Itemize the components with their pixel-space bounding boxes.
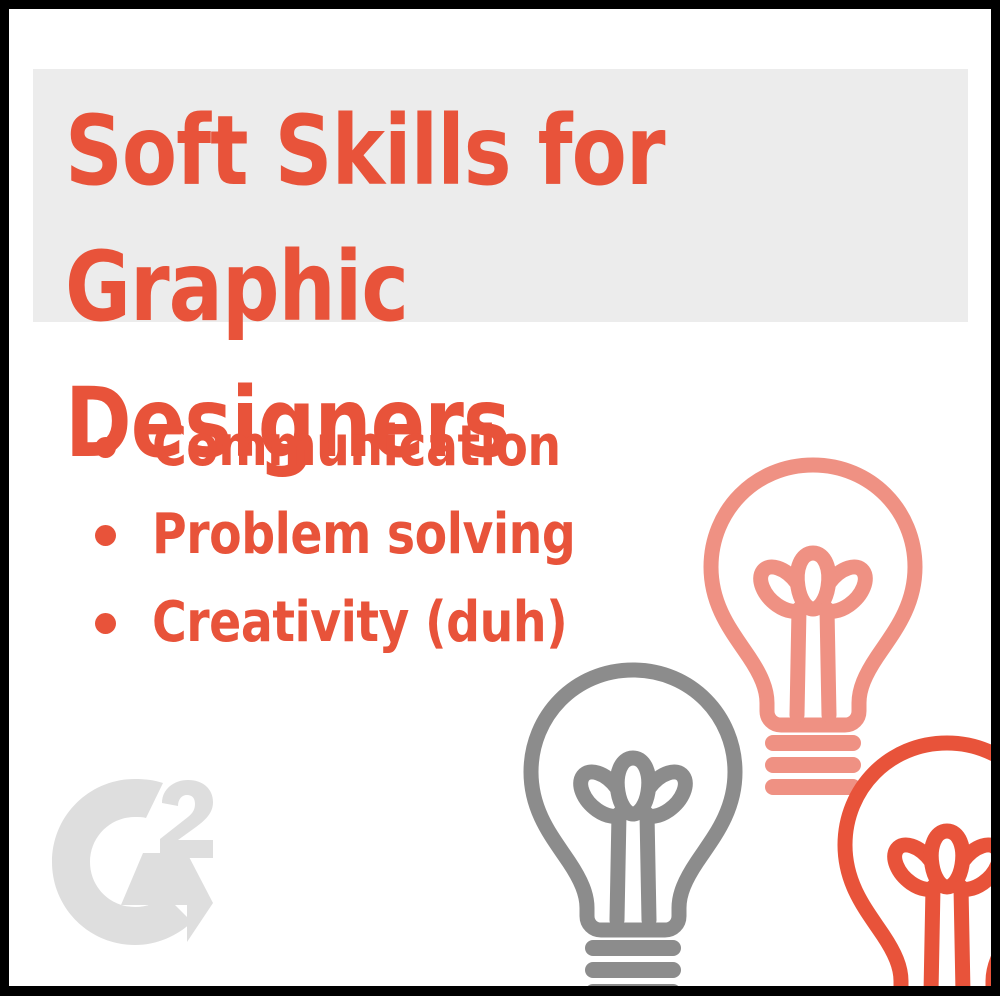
g2-logo [47,775,237,950]
list-item: Creativity (duh) [95,579,602,667]
skill-label-creativity: Creativity (duh) [152,593,567,653]
skills-list: Communication Problem solving Creativity… [95,403,602,667]
slide-canvas: Soft Skills for Graphic Designers Commun… [0,0,1000,996]
bullet-dot-icon [95,613,116,634]
slide-card: Soft Skills for Graphic Designers Commun… [9,9,991,986]
frame-border-right [991,0,1000,996]
bullet-dot-icon [95,437,116,458]
frame-border-top [0,0,1000,9]
list-item: Problem solving [95,491,602,579]
list-item: Communication [95,403,602,491]
skill-label-problem-solving: Problem solving [152,505,575,565]
bullet-dot-icon [95,525,116,546]
skill-label-communication: Communication [152,417,561,477]
frame-border-left [0,0,9,996]
frame-border-bottom [0,986,1000,996]
lightbulb-red-icon [827,727,991,986]
